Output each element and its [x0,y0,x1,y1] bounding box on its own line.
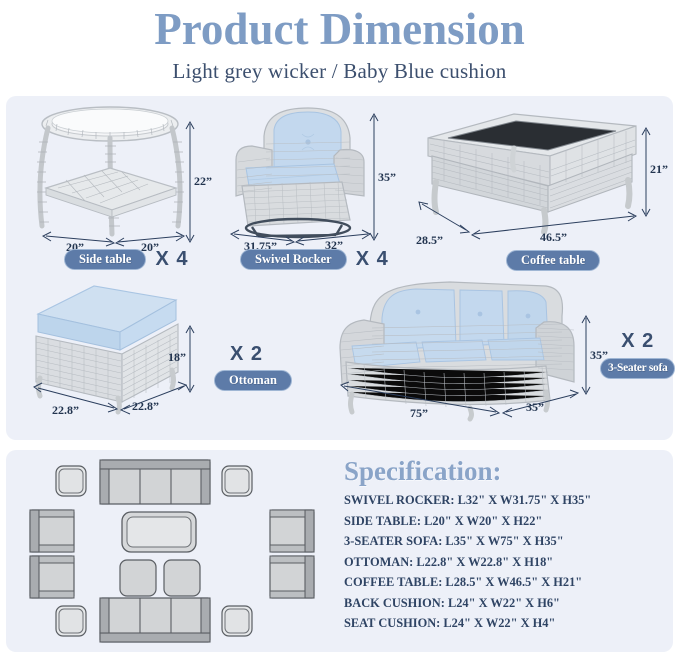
three-seater-sofa-quantity: X 2 [621,330,654,353]
three-seater-sofa-badge: 3-Seater sofa [600,358,675,379]
plan-side-table-bottom-right [222,606,252,636]
plan-chair-right-lower [270,556,314,598]
specification-heading: Specification: [344,455,668,487]
page-title: Product Dimension [0,2,679,56]
spec-line-coffee-table: COFFEE TABLE: L28.5" X W46.5" X H21" [344,572,668,593]
product-three-seater-sofa: 35” 75” 35” [330,272,610,422]
spec-line-side-table: SIDE TABLE: L20" X W20" X H22" [344,511,668,532]
product-ottoman: 18” 22.8” 22.8” [20,278,210,418]
coffee-table-dimension-lines [410,100,660,250]
plan-ottoman-center-left [120,560,156,596]
coffee-table-caption: Coffee table [506,250,600,271]
plan-chair-right-upper [270,510,314,552]
ottoman-caption: X 2 Ottoman [214,343,292,391]
swivel-rocker-badge: Swivel Rocker [240,249,347,270]
swivel-rocker-quantity: X 4 [356,248,389,271]
ottoman-dimension-lines [20,278,210,418]
spec-line-three-seater-sofa: 3-SEATER SOFA: L35" X W75" X H35" [344,531,668,552]
coffee-table-height-label: 21” [650,162,668,177]
spec-line-swivel-rocker: SWIVEL ROCKER: L32" X W31.75" X H35" [344,490,668,511]
three-seater-sofa-depth-label: 35” [526,400,544,415]
swivel-rocker-height-label: 35” [378,170,396,185]
plan-side-table-top-right [222,466,252,496]
side-table-caption: Side table X 4 [64,248,188,271]
specification-list: SWIVEL ROCKER: L32" X W31.75" X H35" SID… [344,490,668,634]
coffee-table-width-label: 46.5” [540,230,567,245]
specification-block: Specification: SWIVEL ROCKER: L32" X W31… [344,455,668,634]
coffee-table-badge: Coffee table [506,250,600,271]
ottoman-badge: Ottoman [214,370,292,391]
ottoman-height-label: 18” [168,350,186,365]
page-subtitle: Light grey wicker / Baby Blue cushion [0,58,679,84]
ottoman-width-label: 22.8” [52,403,79,418]
ottoman-depth-label: 22.8” [132,399,159,414]
plan-chair-left-upper [30,510,74,552]
side-table-height-label: 22” [194,174,212,189]
product-swivel-rocker: 35” 31.75” 32” [222,100,402,250]
ottoman-quantity: X 2 [230,343,263,366]
plan-sofa-bottom [100,598,210,642]
furniture-arrangement-plan [22,456,322,646]
three-seater-sofa-dimension-lines [330,272,610,422]
plan-side-table-top-left [56,466,86,496]
three-seater-sofa-caption: X 2 3-Seater sofa [600,330,675,379]
product-side-table: 22” 20” 20” [26,102,216,252]
page-header: Product Dimension Light grey wicker / Ba… [0,0,679,84]
plan-coffee-table-center [122,512,196,552]
spec-line-ottoman: OTTOMAN: L22.8" X W22.8" X H18" [344,552,668,573]
spec-line-seat-cushion: SEAT CUSHION: L24" X W22" X H4" [344,613,668,634]
three-seater-sofa-width-label: 75” [410,406,428,421]
side-table-badge: Side table [64,249,146,270]
swivel-rocker-caption: Swivel Rocker X 4 [240,248,389,271]
plan-chair-left-lower [30,556,74,598]
swivel-rocker-dimension-lines [222,100,402,250]
plan-ottoman-center-right [164,560,200,596]
side-table-quantity: X 4 [155,248,188,271]
coffee-table-depth-label: 28.5” [416,233,443,248]
side-table-dimension-lines [26,102,216,252]
plan-sofa-top [100,460,210,504]
plan-side-table-bottom-left [56,606,86,636]
spec-line-back-cushion: BACK CUSHION: L24" X W22" X H6" [344,593,668,614]
product-coffee-table: 21” 28.5” 46.5” [410,100,660,250]
